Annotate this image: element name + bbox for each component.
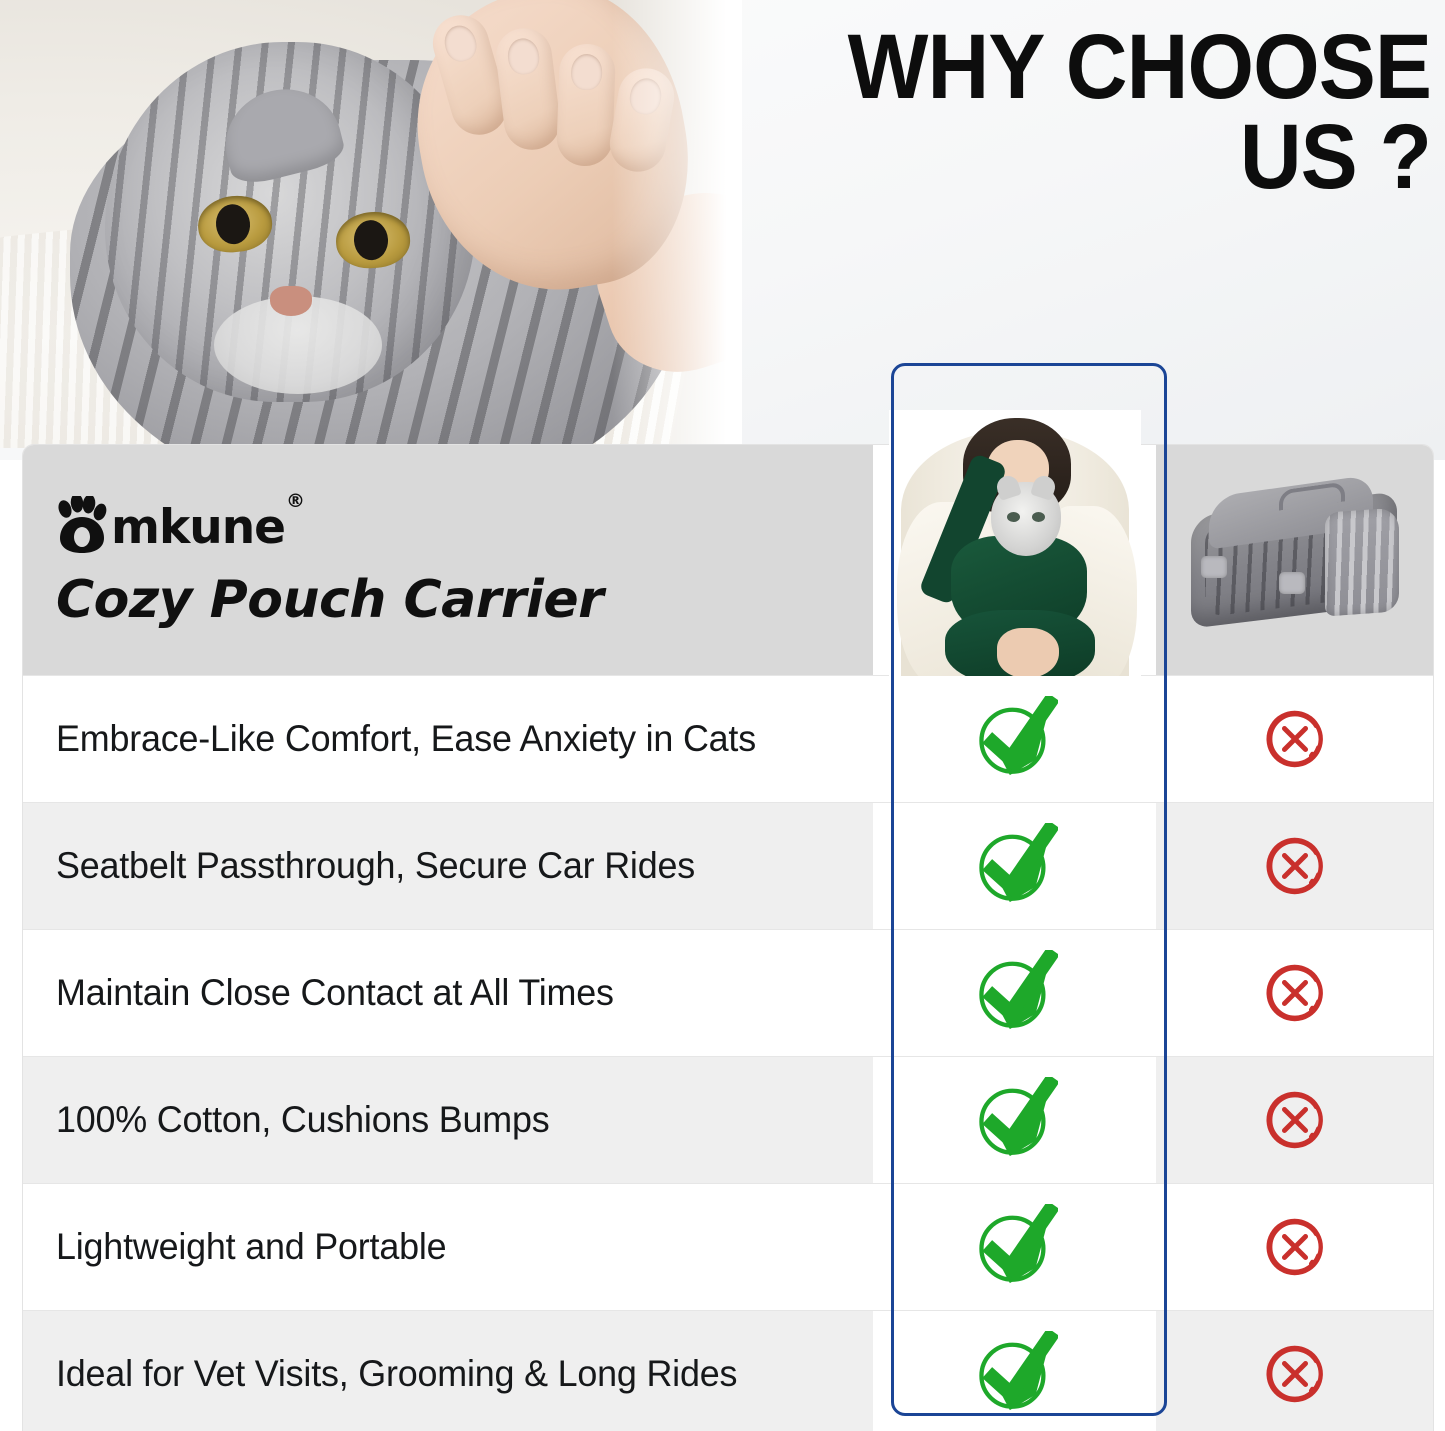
feature-label: 100% Cotton, Cushions Bumps bbox=[56, 1099, 550, 1141]
cat-pupil-right bbox=[353, 219, 390, 261]
check-mark-icon bbox=[972, 696, 1058, 782]
competitor-cell bbox=[1156, 803, 1433, 929]
fingernail bbox=[441, 22, 481, 65]
table-row: 100% Cotton, Cushions Bumps bbox=[23, 1057, 1433, 1184]
crate-latch bbox=[1201, 556, 1227, 578]
product-name: Cozy Pouch Carrier bbox=[56, 570, 603, 630]
feature-label: Maintain Close Contact at All Times bbox=[56, 972, 614, 1014]
headline-line-2: US ? bbox=[706, 112, 1431, 202]
competitor-cell bbox=[1156, 676, 1433, 802]
our-product-header-cell bbox=[873, 445, 1156, 675]
check-mark-icon bbox=[972, 1331, 1058, 1417]
carried-cat bbox=[991, 482, 1061, 556]
check-mark-icon bbox=[972, 823, 1058, 909]
fingernail bbox=[571, 53, 603, 90]
cross-mark-icon bbox=[1264, 1343, 1326, 1405]
our-product-cell bbox=[873, 1184, 1156, 1310]
carried-cat-eye-left bbox=[1007, 512, 1020, 522]
hero-section: WHY CHOOSE US ? bbox=[0, 0, 1445, 460]
feature-label: Seatbelt Passthrough, Secure Car Rides bbox=[56, 845, 695, 887]
table-body: Embrace-Like Comfort, Ease Anxiety in Ca… bbox=[23, 676, 1433, 1431]
crate-latch bbox=[1279, 572, 1305, 594]
headline-line-1: WHY CHOOSE bbox=[706, 22, 1431, 112]
competitor-crate-photo bbox=[1175, 460, 1415, 660]
check-mark-icon bbox=[972, 1077, 1058, 1163]
feature-label: Ideal for Vet Visits, Grooming & Long Ri… bbox=[56, 1353, 737, 1395]
page-title: WHY CHOOSE US ? bbox=[706, 22, 1431, 202]
our-product-cell bbox=[873, 930, 1156, 1056]
competitor-cell bbox=[1156, 1311, 1433, 1431]
feature-cell: Lightweight and Portable bbox=[23, 1184, 873, 1310]
cross-mark-icon bbox=[1264, 708, 1326, 770]
paw-print-icon bbox=[56, 496, 108, 554]
feature-label: Embrace-Like Comfort, Ease Anxiety in Ca… bbox=[56, 718, 756, 760]
feature-cell: Ideal for Vet Visits, Grooming & Long Ri… bbox=[23, 1311, 873, 1431]
brand-logo: mkune ® bbox=[56, 496, 303, 554]
table-row: Maintain Close Contact at All Times bbox=[23, 930, 1433, 1057]
infographic-page: WHY CHOOSE US ? bbox=[0, 0, 1445, 1431]
crate-door-grille bbox=[1325, 507, 1399, 616]
cross-mark-icon bbox=[1264, 1089, 1326, 1151]
human-finger bbox=[556, 43, 616, 167]
cat-nose bbox=[270, 286, 312, 316]
model-hand bbox=[997, 628, 1059, 678]
brand-name: mkune bbox=[111, 504, 285, 551]
cross-mark-icon bbox=[1264, 962, 1326, 1024]
cat-pupil-left bbox=[214, 203, 252, 246]
check-mark-icon bbox=[972, 1204, 1058, 1290]
competitor-cell bbox=[1156, 1184, 1433, 1310]
carried-cat-eye-right bbox=[1032, 512, 1045, 522]
hero-cat-photo bbox=[0, 0, 742, 448]
our-product-photo bbox=[889, 410, 1141, 710]
table-row: Embrace-Like Comfort, Ease Anxiety in Ca… bbox=[23, 676, 1433, 803]
table-row: Lightweight and Portable bbox=[23, 1184, 1433, 1311]
our-product-cell bbox=[873, 1311, 1156, 1431]
comparison-table: mkune ® Cozy Pouch Carrier bbox=[22, 444, 1434, 1431]
competitor-cell bbox=[1156, 1057, 1433, 1183]
check-mark-icon bbox=[972, 950, 1058, 1036]
feature-label: Lightweight and Portable bbox=[56, 1226, 446, 1268]
competitor-cell bbox=[1156, 930, 1433, 1056]
table-row: Ideal for Vet Visits, Grooming & Long Ri… bbox=[23, 1311, 1433, 1431]
registered-trademark-icon: ® bbox=[286, 492, 304, 511]
brand-header-cell: mkune ® Cozy Pouch Carrier bbox=[23, 445, 873, 675]
fingernail bbox=[506, 37, 541, 77]
cat-ear-left bbox=[214, 77, 347, 189]
competitor-header-cell bbox=[1156, 445, 1433, 675]
cross-mark-icon bbox=[1264, 835, 1326, 897]
cross-mark-icon bbox=[1264, 1216, 1326, 1278]
our-product-cell bbox=[873, 803, 1156, 929]
table-header-row: mkune ® Cozy Pouch Carrier bbox=[23, 445, 1433, 676]
feature-cell: 100% Cotton, Cushions Bumps bbox=[23, 1057, 873, 1183]
feature-cell: Maintain Close Contact at All Times bbox=[23, 930, 873, 1056]
feature-cell: Embrace-Like Comfort, Ease Anxiety in Ca… bbox=[23, 676, 873, 802]
feature-cell: Seatbelt Passthrough, Secure Car Rides bbox=[23, 803, 873, 929]
our-product-cell bbox=[873, 676, 1156, 802]
table-row: Seatbelt Passthrough, Secure Car Rides bbox=[23, 803, 1433, 930]
our-product-cell bbox=[873, 1057, 1156, 1183]
